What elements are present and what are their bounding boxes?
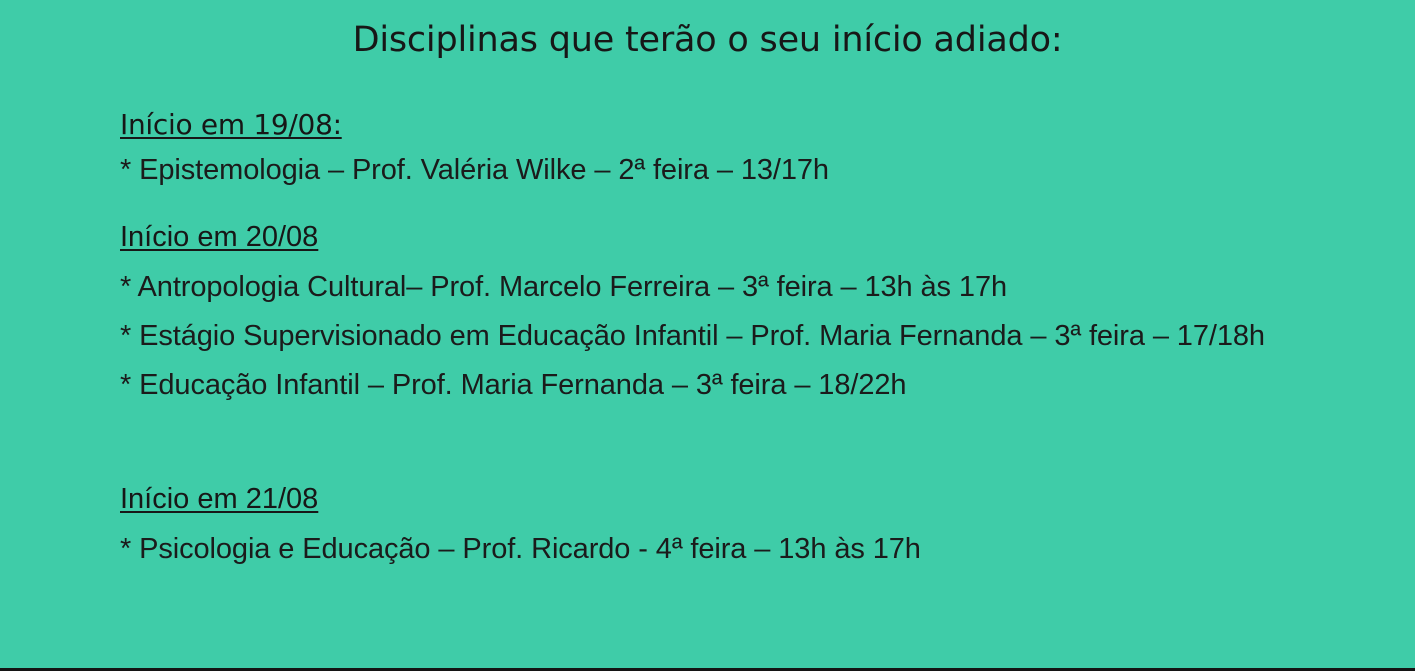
spacer — [120, 190, 1320, 218]
list-item: * Psicologia e Educação – Prof. Ricardo … — [120, 524, 1320, 574]
section-heading-21-08: Início em 21/08 — [120, 480, 318, 518]
section-inicio-20-08: Início em 20/08 * Antropologia Cultural–… — [120, 218, 1320, 410]
slide-canvas: Disciplinas que terão o seu início adiad… — [0, 0, 1415, 668]
section-heading-20-08: Início em 20/08 — [120, 218, 318, 256]
section-inicio-21-08: Início em 21/08 * Psicologia e Educação … — [120, 480, 1320, 574]
spacer — [120, 410, 1320, 480]
list-item: * Antropologia Cultural– Prof. Marcelo F… — [120, 262, 1320, 312]
section-inicio-19-08: Início em 19/08: * Epistemologia – Prof.… — [120, 106, 1320, 190]
section-heading-19-08: Início em 19/08: — [120, 106, 342, 144]
section-heading-row: Início em 21/08 — [120, 480, 1320, 524]
page-title: Disciplinas que terão o seu início adiad… — [0, 19, 1415, 61]
list-item: * Educação Infantil – Prof. Maria Fernan… — [120, 360, 1320, 410]
slide-content-body: Início em 19/08: * Epistemologia – Prof.… — [120, 106, 1320, 574]
slide-background: { "slide": { "title": "Disciplinas que t… — [0, 0, 1415, 671]
section-heading-row: Início em 20/08 — [120, 218, 1320, 262]
section-heading-row: Início em 19/08: — [120, 106, 1320, 150]
list-item: * Epistemologia – Prof. Valéria Wilke – … — [120, 150, 1320, 190]
list-item: * Estágio Supervisionado em Educação Inf… — [120, 312, 1295, 360]
